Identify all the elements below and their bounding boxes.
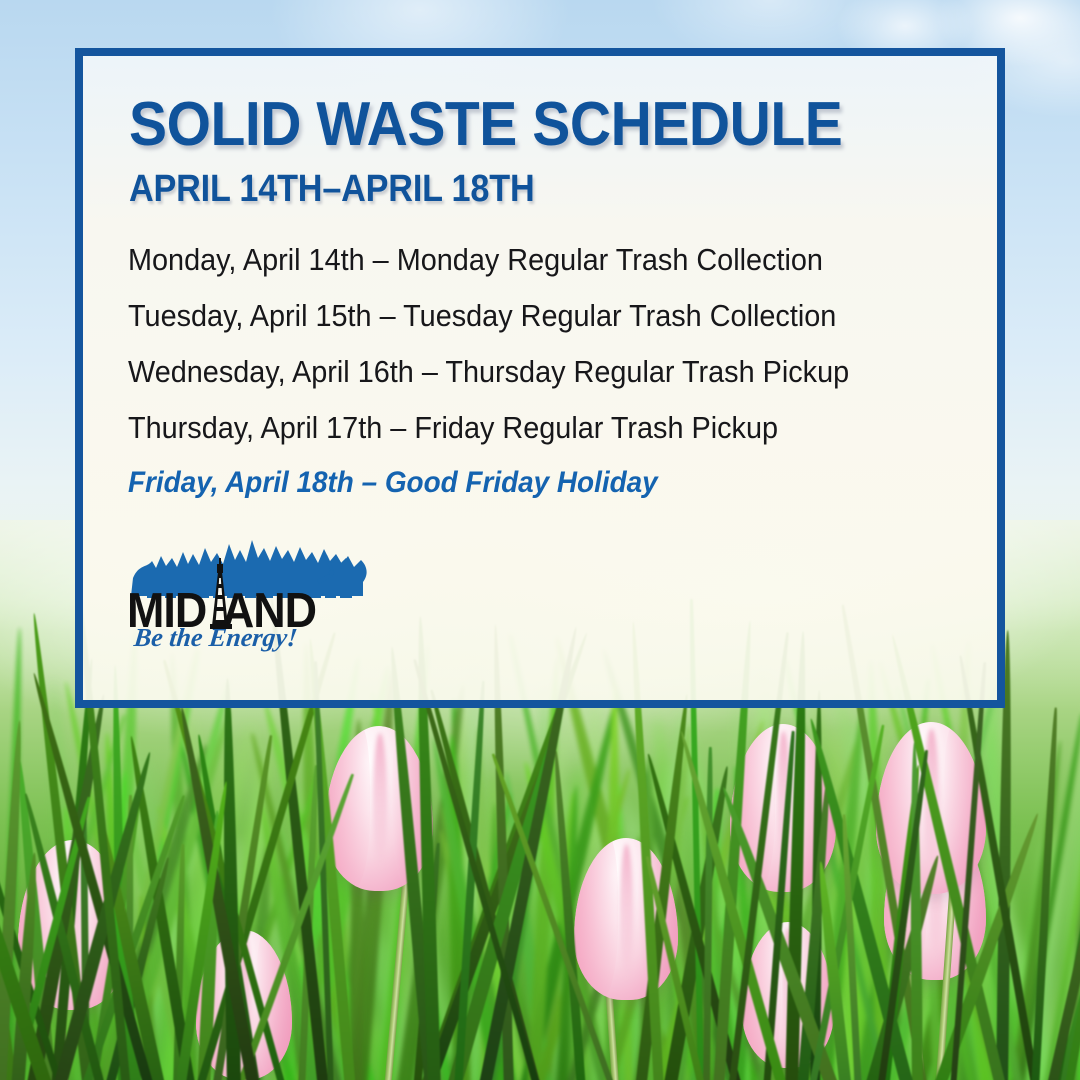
schedule-line: Wednesday, April 16th – Thursday Regular…	[128, 356, 909, 387]
logo-tagline: Be the Energy!	[132, 623, 299, 652]
schedule-card: SOLID WASTE SCHEDULE APRIL 14TH–APRIL 18…	[75, 48, 1005, 708]
schedule-list: Monday, April 14th – Monday Regular Tras…	[128, 244, 968, 523]
schedule-line: Tuesday, April 15th – Tuesday Regular Tr…	[128, 300, 909, 331]
poster: SOLID WASTE SCHEDULE APRIL 14TH–APRIL 18…	[0, 0, 1080, 1080]
date-range-subtitle: APRIL 14TH–APRIL 18TH	[129, 170, 534, 208]
page-title: SOLID WASTE SCHEDULE	[129, 94, 842, 156]
schedule-line: Friday, April 18th – Good Friday Holiday	[128, 468, 909, 498]
schedule-line: Monday, April 14th – Monday Regular Tras…	[128, 244, 909, 275]
schedule-line: Thursday, April 17th – Friday Regular Tr…	[128, 412, 909, 443]
midland-logo: MID AND Be the Energy!	[125, 534, 373, 652]
